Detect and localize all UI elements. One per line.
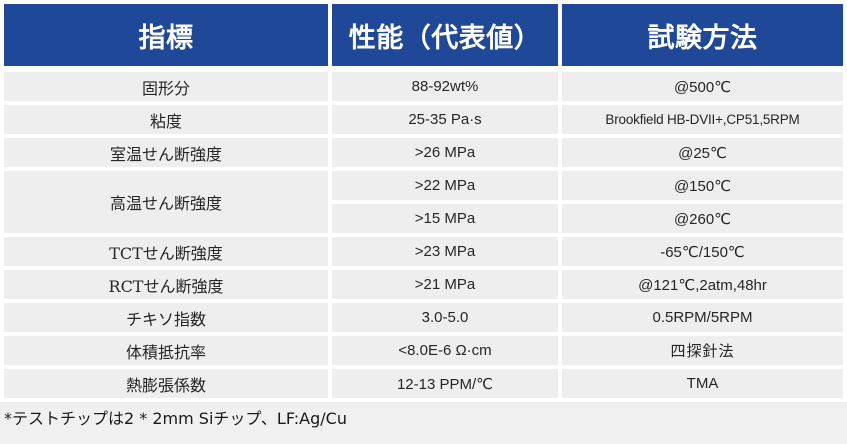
table-cell-performance: >22 MPa [332, 171, 558, 200]
table-body: 固形分 88-92wt% @500℃ 粘度 25-35 Pa·s Brookfi… [0, 72, 847, 431]
table-cell-metric: 体積抵抗率 [4, 336, 328, 365]
table-cell-method: @500℃ [562, 72, 843, 101]
table-cell-performance: >26 MPa [332, 138, 558, 167]
table-cell-method: @25℃ [562, 138, 843, 167]
table-cell-metric: 熱膨張係数 [4, 369, 328, 398]
table-cell-metric: 粘度 [4, 105, 328, 134]
table-cell-performance: <8.0E-6 Ω·cm [332, 336, 558, 365]
table-cell-method: @150℃ [562, 171, 843, 200]
table-cell-metric: RCTせん断強度 [4, 270, 328, 299]
table-cell-metric: チキソ指数 [4, 303, 328, 332]
footnote-text: *テストチップは2 * 2mm Siチップ、LF:Ag/Cu [0, 402, 847, 444]
table-cell-metric: 固形分 [4, 72, 328, 101]
column-header-method: 試験方法 [562, 4, 843, 66]
table-cell-method: 0.5RPM/5RPM [562, 303, 843, 332]
table-cell-metric-merged: 高温せん断強度 [4, 171, 328, 233]
spec-table: 指標 性能（代表値） 試験方法 固形分 88-92wt% @500℃ 粘度 25… [0, 0, 847, 444]
table-cell-method: TMA [562, 369, 843, 398]
table-cell-metric: TCTせん断強度 [4, 237, 328, 266]
table-cell-performance: >23 MPa [332, 237, 558, 266]
table-cell-method: -65℃/150℃ [562, 237, 843, 266]
table-cell-performance: >21 MPa [332, 270, 558, 299]
table-header-row: 指標 性能（代表値） 試験方法 [0, 0, 847, 70]
column-header-metric: 指標 [4, 4, 328, 66]
table-cell-performance: >15 MPa [332, 204, 558, 233]
table-cell-metric: 室温せん断強度 [4, 138, 328, 167]
table-cell-method: @260℃ [562, 204, 843, 233]
table-cell-method: 四探針法 [562, 336, 843, 365]
table-cell-performance: 3.0-5.0 [332, 303, 558, 332]
table-cell-performance: 88-92wt% [332, 72, 558, 101]
table-cell-method: Brookfield HB-DVII+,CP51,5RPM [562, 105, 843, 134]
table-cell-performance: 25-35 Pa·s [332, 105, 558, 134]
column-header-performance: 性能（代表値） [332, 4, 558, 66]
table-cell-performance: 12-13 PPM/℃ [332, 369, 558, 398]
table-cell-method: @121℃,2atm,48hr [562, 270, 843, 299]
